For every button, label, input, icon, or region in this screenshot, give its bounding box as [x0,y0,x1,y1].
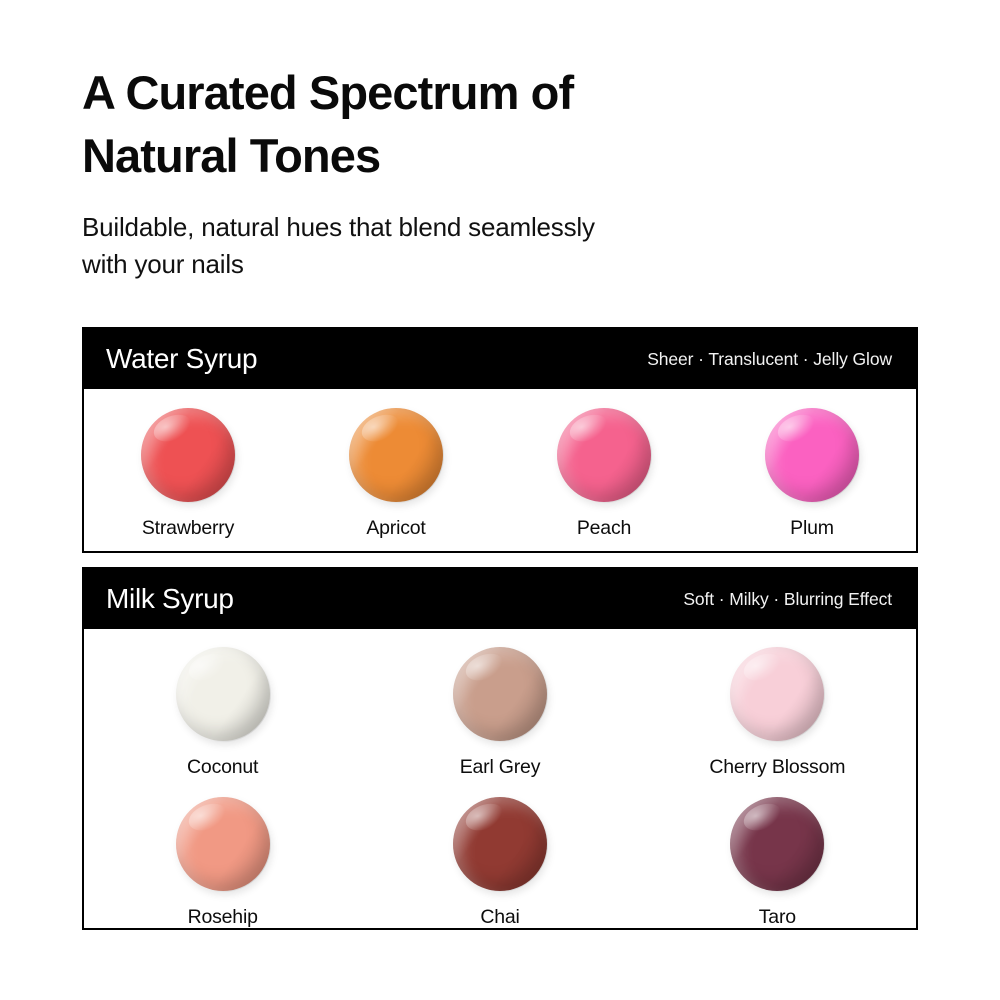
color-drop-icon [765,408,859,502]
swatch-row: Coconut Earl Grey Cherry Blossom [84,629,916,779]
card-header-water-syrup: Water Syrup Sheer · Translucent · Jelly … [84,329,916,389]
color-drop-icon [176,797,270,891]
section-title-water-syrup: Water Syrup [106,343,257,375]
color-drop-icon [453,647,547,741]
section-card-milk-syrup: Milk Syrup Soft · Milky · Blurring Effec… [82,567,918,930]
card-header-milk-syrup: Milk Syrup Soft · Milky · Blurring Effec… [84,569,916,629]
card-body-water-syrup: Strawberry Apricot Peach [84,389,916,540]
swatch-apricot[interactable]: Apricot [292,389,500,540]
swatch-label: Earl Grey [460,756,541,779]
color-drop-icon [453,797,547,891]
swatch-peach[interactable]: Peach [500,389,708,540]
swatch-rosehip[interactable]: Rosehip [84,779,361,929]
swatch-blob-wrap [730,647,824,741]
section-tagline-milk-syrup: Soft · Milky · Blurring Effect [683,589,892,610]
color-collection-page: A Curated Spectrum of Natural Tones Buil… [0,0,1000,1000]
swatch-row: Strawberry Apricot Peach [84,389,916,540]
swatch-blob-wrap [453,797,547,891]
color-drop-icon [730,647,824,741]
swatch-blob-wrap [730,797,824,891]
page-subtitle: Buildable, natural hues that blend seaml… [82,209,942,283]
swatch-label: Chai [480,906,519,929]
swatch-strawberry[interactable]: Strawberry [84,389,292,540]
swatch-blob-wrap [453,647,547,741]
swatch-label: Rosehip [188,906,258,929]
swatch-blob-wrap [141,408,235,502]
swatch-blob-wrap [765,408,859,502]
swatch-row: Rosehip Chai Taro [84,779,916,929]
color-drop-icon [141,408,235,502]
swatch-blob-wrap [176,797,270,891]
card-body-milk-syrup: Coconut Earl Grey Cherry Blossom [84,629,916,929]
swatch-chai[interactable]: Chai [361,779,638,929]
heading-block: A Curated Spectrum of Natural Tones Buil… [82,62,942,283]
swatch-label: Peach [577,517,631,540]
color-drop-icon [349,408,443,502]
swatch-label: Coconut [187,756,258,779]
swatch-label: Apricot [366,517,425,540]
page-title: A Curated Spectrum of Natural Tones [82,62,942,187]
swatch-label: Cherry Blossom [709,756,845,779]
color-drop-icon [557,408,651,502]
swatch-earl-grey[interactable]: Earl Grey [361,629,638,779]
section-tagline-water-syrup: Sheer · Translucent · Jelly Glow [647,349,892,370]
swatch-coconut[interactable]: Coconut [84,629,361,779]
swatch-label: Taro [759,906,796,929]
swatch-blob-wrap [349,408,443,502]
color-drop-icon [730,797,824,891]
swatch-blob-wrap [176,647,270,741]
section-card-water-syrup: Water Syrup Sheer · Translucent · Jelly … [82,327,918,553]
swatch-plum[interactable]: Plum [708,389,916,540]
swatch-blob-wrap [557,408,651,502]
swatch-label: Strawberry [142,517,234,540]
section-title-milk-syrup: Milk Syrup [106,583,234,615]
color-drop-icon [176,647,270,741]
swatch-cherry-blossom[interactable]: Cherry Blossom [639,629,916,779]
swatch-label: Plum [790,517,834,540]
swatch-taro[interactable]: Taro [639,779,916,929]
